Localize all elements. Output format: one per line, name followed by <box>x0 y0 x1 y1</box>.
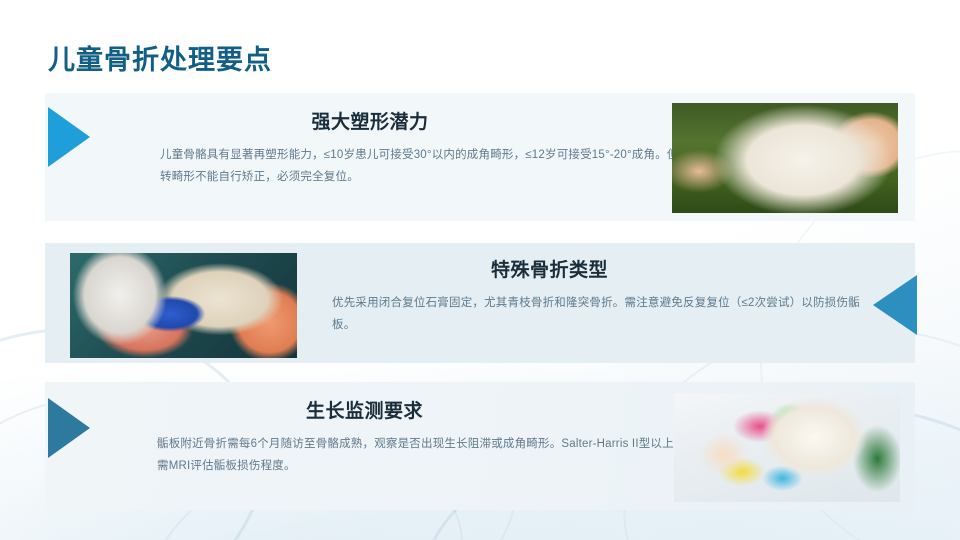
card-image-cast-hand <box>672 103 898 213</box>
card-text-block: 强大塑形潜力 儿童骨骼具有显著再塑形能力，≤10岁患儿可接受30°以内的成角畸形… <box>160 107 700 189</box>
arrow-left-icon <box>873 275 917 335</box>
arrow-right-icon <box>48 398 90 458</box>
content-card-fracture-types: 特殊骨折类型 优先采用闭合复位石膏固定，尤其青枝骨折和隆突骨折。需注意避免反复复… <box>45 243 915 363</box>
card-image-child-cast <box>674 394 900 502</box>
card-body-text: 骺板附近骨折需每6个月随访至骨骼成熟，观察是否出现生长阻滞或成角畸形。Salte… <box>157 433 702 478</box>
card-body-text: 优先采用闭合复位石膏固定，尤其青枝骨折和隆突骨折。需注意避免反复复位（≤2次尝试… <box>332 292 877 337</box>
card-text-block: 特殊骨折类型 优先采用闭合复位石膏固定，尤其青枝骨折和隆突骨折。需注意避免反复复… <box>332 255 877 337</box>
photo-fill <box>674 394 900 502</box>
card-image-cast-saw <box>70 253 297 358</box>
card-title: 特殊骨折类型 <box>332 255 877 282</box>
card-text-block: 生长监测要求 骺板附近骨折需每6个月随访至骨骼成熟，观察是否出现生长阻滞或成角畸… <box>157 396 702 478</box>
slide-canvas: 儿童骨折处理要点 强大塑形潜力 儿童骨骼具有显著再塑形能力，≤10岁患儿可接受3… <box>0 0 960 540</box>
card-title: 强大塑形潜力 <box>160 107 700 134</box>
content-card-plasticity: 强大塑形潜力 儿童骨骼具有显著再塑形能力，≤10岁患儿可接受30°以内的成角畸形… <box>45 93 915 221</box>
arrow-right-icon <box>48 107 90 167</box>
page-title: 儿童骨折处理要点 <box>48 38 272 77</box>
card-body-text: 儿童骨骼具有显著再塑形能力，≤10岁患儿可接受30°以内的成角畸形，≤12岁可接… <box>160 144 700 189</box>
card-title: 生长监测要求 <box>157 396 702 423</box>
content-card-growth-monitoring: 生长监测要求 骺板附近骨折需每6个月随访至骨骼成熟，观察是否出现生长阻滞或成角畸… <box>45 382 915 510</box>
photo-fill <box>672 103 898 213</box>
photo-fill <box>70 253 297 358</box>
